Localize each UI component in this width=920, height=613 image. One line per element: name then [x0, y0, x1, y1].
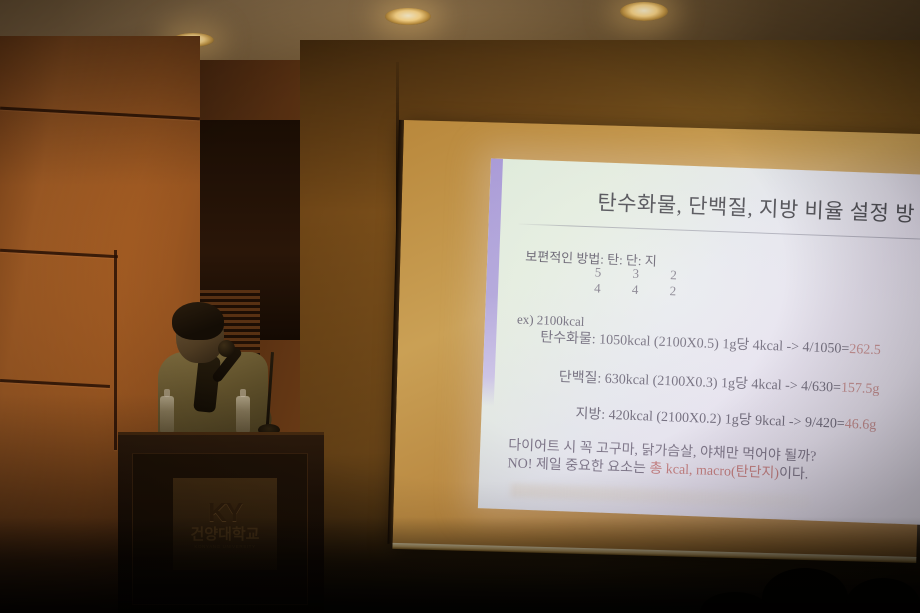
speaker-hair	[172, 302, 224, 340]
logo-name-korean: 건양대학교	[190, 527, 259, 542]
ceiling-downlight-center	[385, 8, 431, 25]
water-bottle-left	[160, 396, 174, 434]
microphone-head	[218, 340, 235, 357]
ceiling-downlight-right	[620, 2, 668, 21]
slide-answer-suffix: 이다.	[779, 466, 809, 482]
logo-mark-ky: KY	[208, 499, 242, 525]
slide-answer-highlight: 총 kcal, macro(탄단지)	[649, 462, 779, 482]
slide-fat-line: 지방: 420kcal (2100X0.2) 1g당 9kcal -> 9/42…	[575, 403, 876, 434]
slide-carb-line: 탄수화물: 1050kcal (2100X0.5) 1g당 4kcal -> 4…	[540, 326, 881, 359]
logo-name-english: KONYANG UNIVERSITY	[194, 544, 255, 549]
podium-front-panel: KY 건양대학교 KONYANG UNIVERSITY	[132, 453, 308, 605]
podium: KY 건양대학교 KONYANG UNIVERSITY	[118, 432, 324, 613]
slide-footer-smudge	[510, 483, 810, 508]
slide-protein-text: 단백질: 630kcal (2100X0.3) 1g당 4kcal -> 4/6…	[559, 370, 842, 396]
slide-fat-text: 지방: 420kcal (2100X0.2) 1g당 9kcal -> 9/42…	[575, 407, 845, 432]
slide-title: 탄수화물, 단백질, 지방 비율 설정 방	[597, 186, 916, 228]
slide-content: 탄수화물, 단백질, 지방 비율 설정 방 보편적인 방법: 탄: 단: 지 5…	[490, 159, 920, 525]
slide-carb-result: 262.5	[849, 342, 881, 358]
projection-screen: 탄수화물, 단백질, 지방 비율 설정 방 보편적인 방법: 탄: 단: 지 5…	[393, 120, 920, 558]
slide-carb-text: 탄수화물: 1050kcal (2100X0.5) 1g당 4kcal -> 4…	[540, 330, 850, 357]
slide-ratio-row-2: 4 4 2	[594, 280, 691, 300]
lecture-hall-photo: 탄수화물, 단백질, 지방 비율 설정 방 보편적인 방법: 탄: 단: 지 5…	[0, 0, 920, 613]
slide-answer-prefix: NO! 제일 중요한 요소는	[507, 456, 649, 476]
slide-protein-result: 157.5g	[841, 381, 880, 397]
water-bottle-right	[236, 396, 250, 434]
presentation-slide: 탄수화물, 단백질, 지방 비율 설정 방 보편적인 방법: 탄: 단: 지 5…	[478, 158, 920, 525]
university-logo: KY 건양대학교 KONYANG UNIVERSITY	[173, 478, 277, 570]
slide-protein-line: 단백질: 630kcal (2100X0.3) 1g당 4kcal -> 4/6…	[558, 366, 879, 398]
slide-fat-result: 46.6g	[844, 417, 876, 433]
